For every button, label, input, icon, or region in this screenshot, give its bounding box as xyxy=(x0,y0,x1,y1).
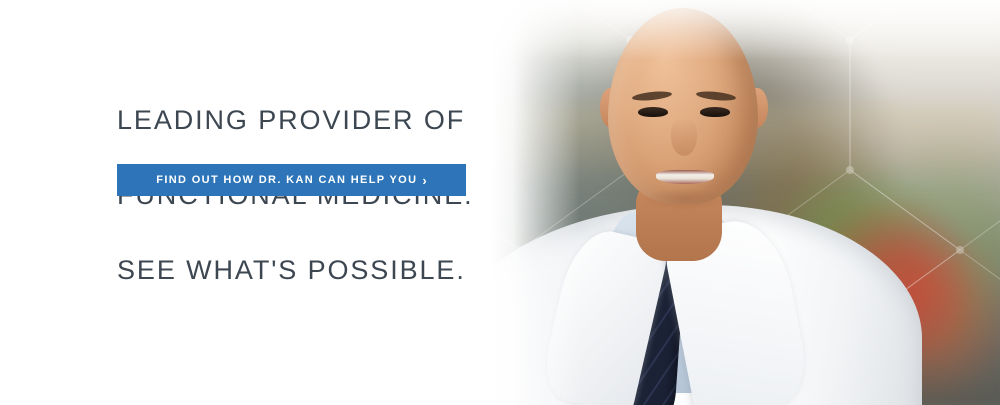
eye-left xyxy=(638,107,668,117)
chin-shadow xyxy=(642,188,726,210)
mouth xyxy=(656,170,714,184)
eye-right xyxy=(700,107,730,117)
hero-photo xyxy=(460,0,1000,405)
hero-banner: LEADING PROVIDER OF FUNCTIONAL MEDICINE.… xyxy=(0,0,1000,405)
headline-line-3: SEE WHAT'S POSSIBLE. xyxy=(117,258,477,283)
headline-line-1: LEADING PROVIDER OF xyxy=(117,108,477,133)
find-out-how-button[interactable]: FIND OUT HOW DR. KAN CAN HELP YOU › xyxy=(117,164,466,196)
photo-left-fade xyxy=(460,0,580,405)
cta-label: FIND OUT HOW DR. KAN CAN HELP YOU xyxy=(156,175,417,186)
chevron-right-icon: › xyxy=(422,174,426,187)
nose xyxy=(671,118,697,156)
